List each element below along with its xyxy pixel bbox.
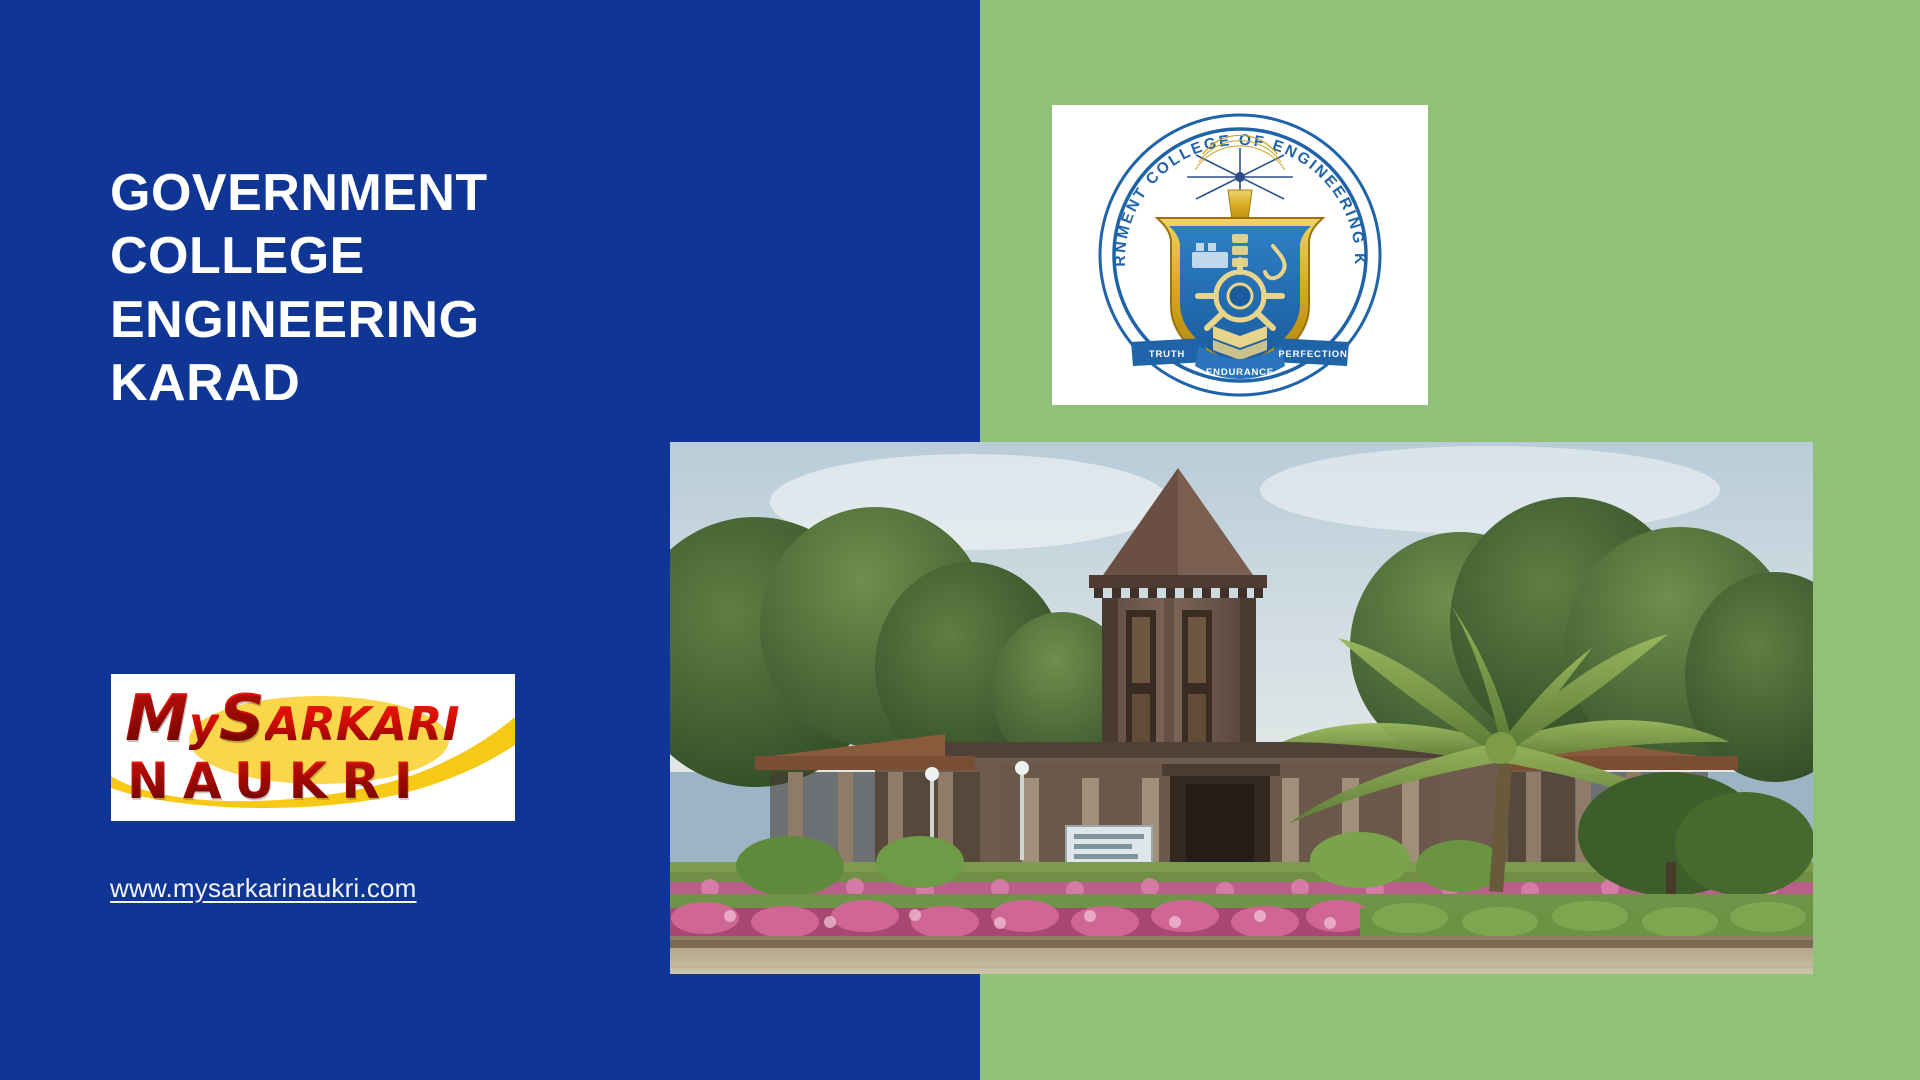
slide-canvas: GOVERNMENT COLLEGE ENGINEERING KARAD MyS… (0, 0, 1920, 1080)
college-crest-icon: GOVERNMENT COLLEGE OF ENGINEERING KARAD (1095, 110, 1385, 400)
logo-letter-s: S (219, 682, 265, 756)
campus-building-photo (670, 442, 1813, 974)
logo-letter-m: M (125, 682, 189, 756)
logo-text-arkari: ARKARI (265, 697, 460, 751)
logo-text-wrap: MySARKARI NAUKRI (111, 674, 515, 821)
website-url-link[interactable]: www.mysarkarinaukri.com (110, 873, 417, 904)
svg-text:TRUTH: TRUTH (1149, 349, 1185, 360)
mysarkarinaukri-logo[interactable]: MySARKARI NAUKRI (111, 674, 515, 821)
logo-letter-y: y (189, 697, 219, 751)
logo-line-two-naukri: NAUKRI (127, 752, 426, 810)
page-title: GOVERNMENT COLLEGE ENGINEERING KARAD (110, 162, 610, 416)
svg-text:ENDURANCE: ENDURANCE (1206, 367, 1274, 378)
logo-line-one: MySARKARI (125, 682, 460, 756)
svg-text:PERFECTION: PERFECTION (1278, 349, 1347, 360)
crest-card: GOVERNMENT COLLEGE OF ENGINEERING KARAD (1052, 105, 1428, 405)
campus-photo-illustration (670, 442, 1813, 974)
